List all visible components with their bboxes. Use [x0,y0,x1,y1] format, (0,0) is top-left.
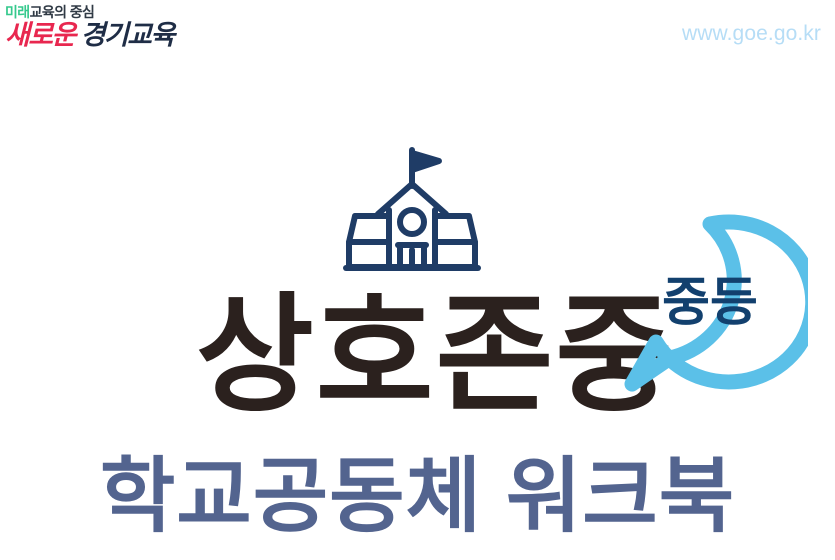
site-url-text: www.goe.go.kr [682,22,821,46]
brand-name: 새로운 경기교육 [5,21,174,49]
cover-page: 미래교육의 중심 새로운 경기교육 www.goe.go.kr [0,0,835,560]
flag-banner [412,153,439,170]
speech-bubble-shape [612,212,808,398]
brand-name-accent: 새로운 [5,20,75,50]
left-wing-body [349,242,389,267]
right-wing-body [435,242,475,267]
page-title: 상호존중 [196,286,675,427]
school-building-icon [338,144,486,274]
brand-tagline: 미래교육의 중심 [5,5,174,19]
right-wing-roof [435,216,475,242]
page-subtitle: 학교공동체 워크북 [0,452,835,542]
brand-name-rest: 경기교육 [81,20,174,50]
brand-tagline-accent: 미래 [5,4,30,20]
left-wing-roof [349,216,389,242]
page-header: 미래교육의 중심 새로운 경기교육 www.goe.go.kr [0,0,835,60]
speech-bubble-outline [632,222,808,384]
brand-logo: 미래교육의 중심 새로운 경기교육 [5,5,174,49]
tower-window [400,210,424,234]
school-building-glyph [338,144,486,274]
brand-tagline-rest: 교육의 중심 [30,4,95,20]
level-badge-bubble [612,212,808,398]
